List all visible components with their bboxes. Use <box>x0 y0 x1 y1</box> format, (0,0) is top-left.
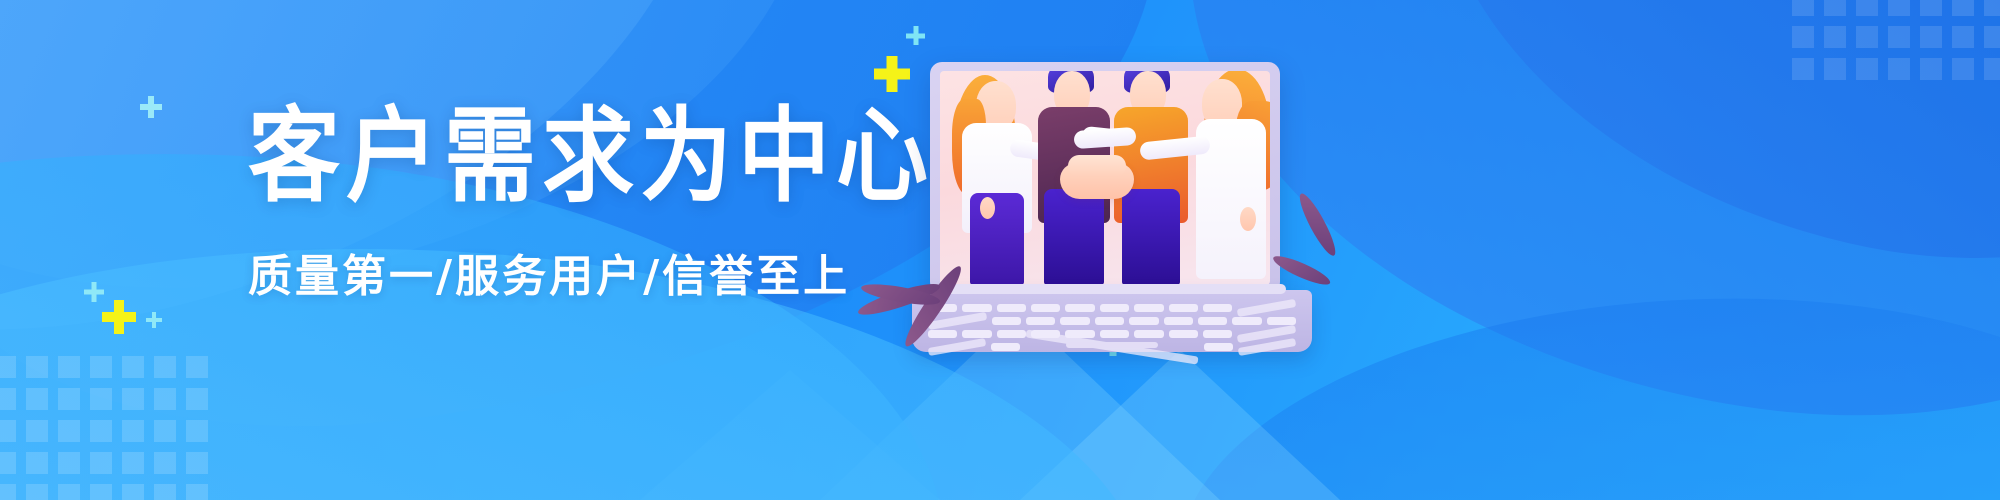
hand <box>1240 207 1256 231</box>
legs-navy <box>1044 189 1104 285</box>
keyboard-key <box>1203 330 1232 338</box>
laptop-trackpad <box>1066 342 1158 348</box>
keyboard-key <box>1203 304 1232 312</box>
keyboard-key <box>1232 317 1261 325</box>
laptop-illustration <box>912 62 1312 352</box>
laptop-base <box>912 290 1312 352</box>
keyboard-key <box>1204 343 1233 351</box>
keyboard-row <box>928 317 1296 325</box>
keyboard-key <box>1164 317 1193 325</box>
person-woman-left <box>950 71 1042 285</box>
banner-copy: 客户需求为中心 质量第一/服务用户/信誉至上 <box>248 104 868 304</box>
plus-cyan-small-bottom-icon <box>146 312 162 328</box>
laptop-screen <box>940 71 1270 285</box>
keyboard-key <box>928 330 957 338</box>
keyboard-key <box>1065 304 1094 312</box>
keyboard-key <box>962 330 991 338</box>
hand <box>980 197 995 219</box>
person-woman-right <box>1184 71 1270 285</box>
keyboard-row <box>928 304 1296 312</box>
keyboard-key <box>1026 317 1055 325</box>
keyboard-key <box>1129 317 1158 325</box>
plus-cyan-far-left-icon <box>140 96 162 118</box>
keyboard-key <box>1031 304 1060 312</box>
laptop-hinge <box>938 284 1286 294</box>
banner-subline: 质量第一/服务用户/信誉至上 <box>248 240 868 304</box>
keyboard-key <box>1134 330 1163 338</box>
keyboard-key <box>1134 304 1163 312</box>
plus-cyan-small-top-icon <box>906 26 925 45</box>
keyboard-key <box>997 304 1026 312</box>
legs-navy <box>1122 189 1180 285</box>
keyboard-key <box>1169 330 1198 338</box>
keyboard-key <box>928 338 987 356</box>
keyboard-key <box>1237 299 1296 317</box>
keyboard-key <box>1169 304 1198 312</box>
keyboard-key <box>1100 304 1129 312</box>
laptop-lid <box>930 62 1280 294</box>
background-mountain-3 <box>640 370 940 500</box>
keyboard-key <box>997 330 1026 338</box>
keyboard-key <box>991 343 1020 351</box>
keyboard-key <box>992 317 1021 325</box>
banner-root: 客户需求为中心 质量第一/服务用户/信誉至上 <box>0 0 2000 500</box>
plus-cyan-mid-bottom-icon <box>84 282 104 302</box>
leaf-frond-4 <box>1295 190 1341 259</box>
stacked-hands-top <box>1068 155 1126 177</box>
plus-yellow-large-bottom-icon <box>102 300 136 334</box>
background-mountain-2 <box>1020 350 1340 500</box>
keyboard-key <box>1198 317 1227 325</box>
legs-purple <box>970 193 1024 285</box>
plus-yellow-large-top-icon <box>874 56 910 92</box>
keyboard-key <box>1095 317 1124 325</box>
keyboard-key <box>962 304 991 312</box>
grid-pattern-bottom-left <box>0 356 208 500</box>
keyboard-key <box>1100 330 1129 338</box>
keyboard-key <box>1267 317 1296 325</box>
background-wave-right-2 <box>1362 0 2000 333</box>
keyboard-key <box>1060 317 1089 325</box>
grid-pattern-top-right <box>1792 0 2000 80</box>
keyboard-row <box>928 330 1296 338</box>
banner-headline: 客户需求为中心 <box>248 104 868 209</box>
